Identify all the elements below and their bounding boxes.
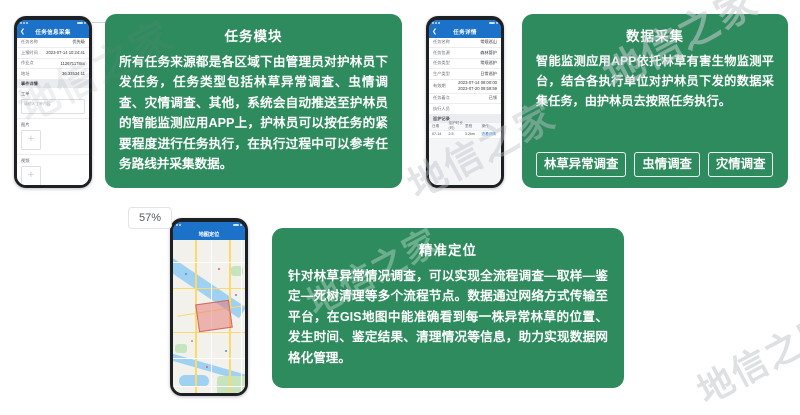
status-bar-left-icons <box>20 22 28 24</box>
nav-title: 地图定位 <box>199 231 220 238</box>
field-label: 图片 <box>21 122 85 128</box>
nav-title: 任务信息采集 <box>35 28 70 36</box>
table-row[interactable]: 07-14 2.5 3.2km 查看详情 <box>429 131 501 139</box>
status-bar-right-icons <box>233 224 242 227</box>
chevron-left-icon[interactable]: ❮ <box>432 29 437 35</box>
map-highlighted-plot[interactable] <box>195 299 233 331</box>
plus-icon[interactable]: + <box>21 166 41 185</box>
video-upload-field: 视频 + <box>17 155 89 185</box>
column-header: 日期 <box>432 124 449 129</box>
card-body: 智能监测应用APP依托林草有害生物监测平台，结合各执行单位对护林员下发的数据采集… <box>536 52 774 111</box>
map-navbar: 地图定位 <box>173 229 245 240</box>
table-header-row: 日期 巡护时长(时) 里程 操作 <box>429 123 501 131</box>
map-road-minor <box>241 240 242 393</box>
tag-forest-anomaly-survey[interactable]: 林草异常调查 <box>536 152 626 177</box>
tag-disaster-survey[interactable]: 灾情调查 <box>708 152 774 177</box>
card-title: 任务模块 <box>119 25 388 45</box>
work-order-field: 工单 请输入工单内容 <box>17 88 89 119</box>
form-row: 作业点 112671178xx <box>17 59 89 70</box>
detail-row: 任务名称 常规巡山 <box>429 38 501 49</box>
map-road-minor <box>173 262 245 263</box>
phone-screen-task-detail: ❮ 任务详情 任务名称 常规巡山 任务包源 森林管护 任务类型 常规巡护 生产类… <box>429 20 501 185</box>
row-value: 日常巡护 <box>480 71 497 77</box>
row-key: 地址 <box>21 71 29 77</box>
phone-mockup-map-view: 地图定位 <box>170 218 248 396</box>
row-key: 任务类型 <box>433 60 450 66</box>
plus-icon[interactable]: + <box>21 130 41 150</box>
status-bar <box>17 20 89 27</box>
row-value: 森林管护 <box>480 50 497 56</box>
patrol-record-table: 日期 巡护时长(时) 里程 操作 07-14 2.5 3.2km 查看详情 <box>429 123 501 139</box>
row-key: 任务着点 <box>433 95 450 101</box>
map-poi-marker[interactable] <box>218 268 220 270</box>
status-bar <box>429 20 501 27</box>
row-key: 任务名称 <box>433 39 450 45</box>
watermark-text: 地信之家 <box>687 297 800 414</box>
photo-upload-field: 图片 + <box>17 119 89 155</box>
tag-pest-survey[interactable]: 虫情调查 <box>634 152 700 177</box>
cell-action-link[interactable]: 查看详情 <box>482 132 499 137</box>
phone-screen-task-form: ❮ 任务信息采集 任务名称 优先级 上报时间 2023-07-14 10:24:… <box>17 20 89 185</box>
row-key: 执行人员 <box>433 106 450 112</box>
detail-row: 执行人员 <box>429 104 501 115</box>
status-bar-right-icons <box>489 22 498 25</box>
field-label: 视频 <box>21 158 85 164</box>
cell-date: 07-14 <box>432 132 449 136</box>
field-label: 工单 <box>21 91 85 97</box>
map-road-major <box>173 332 245 334</box>
phone-navbar: ❮ 任务信息采集 <box>17 27 89 38</box>
column-header: 里程 <box>465 124 482 129</box>
section-header: 巡护记录 <box>429 115 501 123</box>
section-header: 事件详情 <box>17 80 89 88</box>
detail-row: 有效期 2023-07-14 08:00:00 2023-07-20 09:59… <box>429 80 501 94</box>
phone-mockup-task-detail: ❮ 任务详情 任务名称 常规巡山 任务包源 森林管护 任务类型 常规巡护 生产类… <box>426 16 504 188</box>
row-value: 36.33534 11 <box>62 71 85 76</box>
row-value: 2023-07-14 10:24:41 <box>46 50 85 55</box>
row-key: 任务包源 <box>433 50 450 56</box>
zoom-level-badge[interactable]: 57% <box>128 207 172 229</box>
form-row: 地址 36.33534 11 <box>17 69 89 80</box>
detail-row: 生产类型 日常巡护 <box>429 69 501 80</box>
status-bar-right-icons <box>77 22 86 25</box>
map-road-minor <box>173 386 245 387</box>
map-canvas[interactable] <box>173 240 245 393</box>
row-key: 作业点 <box>21 60 34 66</box>
cell-duration: 2.5 <box>449 132 466 136</box>
row-key: 任务名称 <box>21 39 38 45</box>
tag-list: 林草异常调查 虫情调查 灾情调查 <box>536 152 773 177</box>
task-form-content: 任务名称 优先级 上报时间 2023-07-14 10:24:41 作业点 11… <box>17 38 89 185</box>
card-title: 数据采集 <box>536 25 774 45</box>
chevron-left-icon[interactable]: ❮ <box>20 29 25 35</box>
row-key: 有效期 <box>433 83 446 89</box>
row-value: 已领 <box>489 95 497 101</box>
card-body: 针对林草异常情况调查，可以实现全流程调查—取样—鉴定—死树清理等多个流程节点。数… <box>288 266 608 368</box>
row-key: 生产类型 <box>433 71 450 77</box>
nav-title: 任务详情 <box>453 28 477 36</box>
status-bar <box>173 222 245 229</box>
cell-distance: 3.2km <box>465 132 482 136</box>
map-road-minor <box>173 358 245 359</box>
map-poi-marker[interactable] <box>225 350 227 352</box>
map-road-major <box>173 288 245 290</box>
card-body: 所有任务来源都是各区域下由管理员对护林员下发任务，任务类型包括林草异常调查、虫情… <box>119 52 388 174</box>
task-detail-content: 任务名称 常规巡山 任务包源 森林管护 任务类型 常规巡护 生产类型 日常巡护 … <box>429 38 501 185</box>
map-poi-marker[interactable] <box>235 294 237 296</box>
map-park-area <box>175 344 187 353</box>
info-card-task-module: 任务模块 所有任务来源都是各区域下由管理员对护林员下发任务，任务类型包括林草异常… <box>105 14 402 188</box>
info-card-data-collection: 数据采集 智能监测应用APP依托林草有害生物监测平台，结合各执行单位对护林员下发… <box>522 14 788 188</box>
status-bar-left-icons <box>176 224 181 226</box>
row-value: 2023-07-14 08:00:00 2023-07-20 09:59:59 <box>458 80 497 91</box>
phone-mockup-task-form: ❮ 任务信息采集 任务名称 优先级 上报时间 2023-07-14 10:24:… <box>14 16 92 188</box>
detail-row: 任务包源 森林管护 <box>429 48 501 59</box>
phone-navbar: ❮ 任务详情 <box>429 27 501 38</box>
phone-screen-map-view: 地图定位 <box>173 222 245 393</box>
row-value: 常规巡山 <box>480 39 497 45</box>
info-card-precise-location: 精准定位 针对林草异常情况调查，可以实现全流程调查—取样—鉴定—死树清理等多个流… <box>272 228 624 388</box>
form-row: 任务名称 优先级 <box>17 38 89 49</box>
row-value: 112671178xx <box>60 61 85 66</box>
row-key: 上报时间 <box>21 50 38 56</box>
row-value: 常规巡护 <box>480 60 497 66</box>
card-title: 精准定位 <box>288 239 608 259</box>
form-row: 上报时间 2023-07-14 10:24:41 <box>17 48 89 59</box>
work-order-textarea[interactable]: 请输入工单内容 <box>21 99 85 114</box>
column-header: 巡护时长(时) <box>449 121 466 131</box>
row-value: 优先级 <box>72 39 85 45</box>
map-poi-marker[interactable] <box>191 340 193 342</box>
status-bar-left-icons <box>432 22 440 24</box>
column-header: 操作 <box>482 124 499 129</box>
detail-row: 任务类型 常规巡护 <box>429 59 501 70</box>
detail-row: 任务着点 已领 <box>429 94 501 105</box>
